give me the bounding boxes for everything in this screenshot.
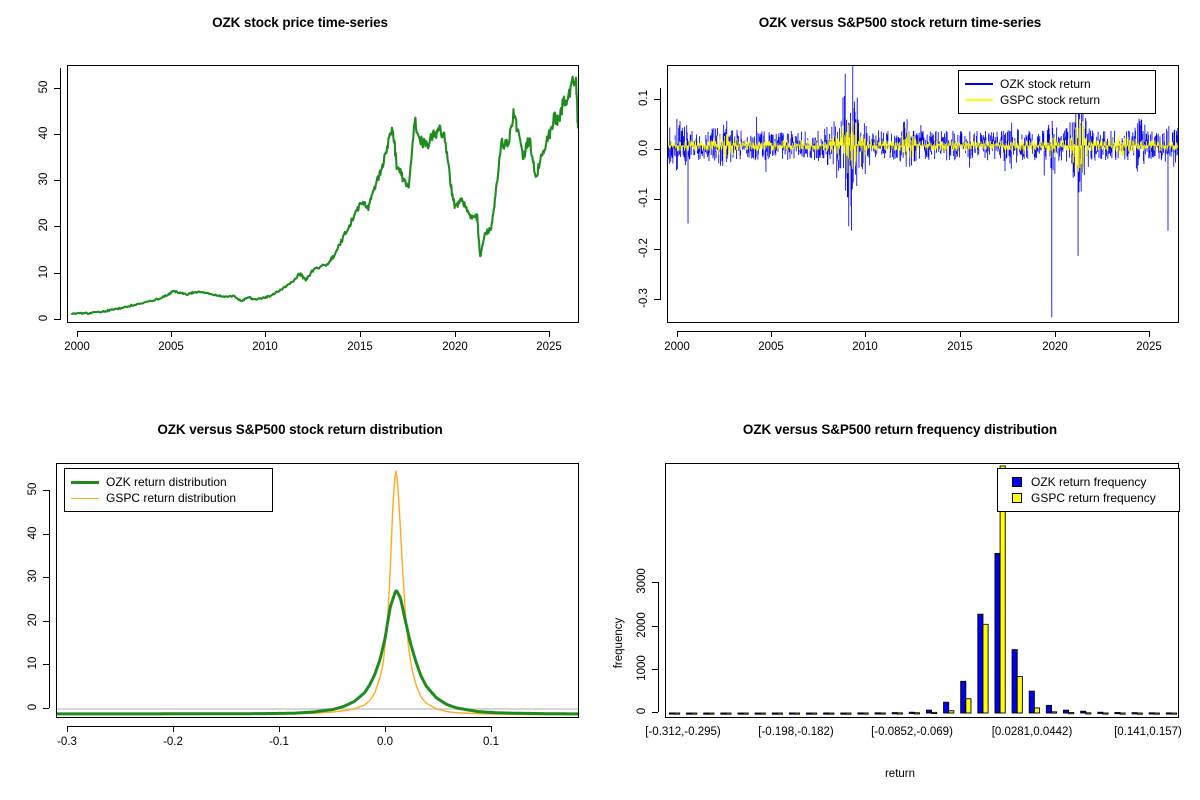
x-tick-label-2000-tr: 2000 — [664, 341, 690, 353]
frequency-bar — [812, 713, 817, 714]
legend-row-ozk-return: OZK stock return — [965, 76, 1148, 92]
y-tick-1000-br — [652, 669, 658, 670]
panel-title-top-right: OZK versus S&P500 stock return time-seri… — [600, 15, 1200, 30]
y-axis-line-top-left — [60, 68, 61, 320]
legend-swatch-gspc-frequency — [1012, 493, 1022, 503]
x-tick-label-bin5-br: [0.141,0.157) — [1114, 726, 1182, 738]
frequency-bar — [909, 712, 914, 713]
frequency-bar — [829, 713, 834, 714]
frequency-bar — [743, 713, 748, 714]
y-tick-30-bl — [43, 577, 49, 578]
legend-row-gspc-density: GSPC return distribution — [71, 490, 265, 506]
x-tick-label-m01-bl: -0.1 — [269, 736, 289, 748]
x-tick-label-2015-tl: 2015 — [347, 341, 373, 353]
y-tick-50-bl — [43, 490, 49, 491]
frequency-bar — [726, 713, 731, 714]
x-tick-label-m03-bl: -0.3 — [57, 736, 77, 748]
x-tick-2000-tr — [677, 331, 678, 337]
y-tick-label-m02-tr: -0.2 — [638, 231, 650, 265]
y-tick-0-bl — [43, 708, 49, 709]
frequency-bar — [932, 712, 937, 713]
y-tick-label-p01-tr: 0.1 — [638, 83, 650, 113]
legend-label-ozk-density: OZK return distribution — [106, 475, 227, 489]
x-tick-2015-tr — [960, 331, 961, 337]
frequency-bar — [1115, 712, 1120, 713]
y-tick-label-00-tr: 0.0 — [638, 133, 650, 163]
x-tick-m01-bl — [279, 726, 280, 732]
frequency-bar — [863, 713, 868, 714]
panel-title-bottom-right: OZK versus S&P500 return frequency distr… — [600, 422, 1200, 437]
legend-row-ozk-density: OZK return distribution — [71, 474, 265, 490]
frequency-bar — [858, 713, 863, 714]
panel-ozk-gspc-return-frequency: OZK versus S&P500 return frequency distr… — [600, 400, 1200, 800]
frequency-bar — [1137, 713, 1142, 714]
y-tick-m02-tr — [654, 249, 660, 250]
frequency-bar — [687, 713, 692, 714]
figure-canvas: OZK stock price time-series 0 10 20 30 4… — [0, 0, 1200, 800]
frequency-bar — [897, 713, 902, 714]
legend-bottom-left: OZK return distribution GSPC return dist… — [64, 468, 273, 512]
frequency-bar — [875, 713, 880, 714]
x-tick-m03-bl — [67, 726, 68, 732]
legend-row-gspc-return: GSPC stock return — [965, 92, 1148, 108]
x-tick-2005-tr — [771, 331, 772, 337]
legend-row-ozk-frequency: OZK return frequency — [1004, 474, 1172, 490]
y-tick-0-br — [652, 712, 658, 713]
y-tick-label-m01-tr: -0.1 — [638, 181, 650, 215]
x-tick-label-bin2-br: [-0.198,-0.182) — [758, 726, 833, 738]
x-tick-2020-tr — [1055, 331, 1056, 337]
ozk-price-line-svg — [68, 66, 579, 323]
frequency-bar — [777, 713, 782, 714]
frequency-bar — [789, 713, 794, 714]
panel-title-top-left: OZK stock price time-series — [0, 15, 600, 30]
frequency-bar — [1154, 713, 1159, 714]
x-tick-2025-tl — [549, 331, 550, 337]
y-tick-label-m03-tr: -0.3 — [638, 281, 650, 315]
x-tick-label-2010-tl: 2010 — [252, 341, 278, 353]
y-tick-label-30-tl: 30 — [38, 169, 50, 189]
frequency-bar — [1086, 713, 1091, 714]
frequency-bar — [1052, 712, 1057, 713]
frequency-bar — [966, 699, 971, 713]
y-tick-label-50-tl: 50 — [38, 77, 50, 97]
frequency-bar — [692, 713, 697, 714]
legend-row-gspc-frequency: GSPC return frequency — [1004, 490, 1172, 506]
legend-label-ozk-return: OZK stock return — [1000, 77, 1091, 91]
frequency-bar — [880, 713, 885, 714]
frequency-bar — [944, 702, 949, 713]
y-tick-label-10-tl: 10 — [38, 262, 50, 282]
x-tick-label-2015-tr: 2015 — [947, 341, 973, 353]
frequency-bar — [1132, 713, 1137, 714]
y-tick-00-tr — [654, 149, 660, 150]
y-tick-p01-tr — [654, 99, 660, 100]
frequency-bar — [675, 713, 680, 714]
y-tick-3000-br — [652, 582, 658, 583]
x-tick-label-m02-bl: -0.2 — [163, 736, 183, 748]
x-tick-2000-tl — [77, 331, 78, 337]
y-tick-10-bl — [43, 664, 49, 665]
panel-ozk-gspc-return-timeseries: OZK versus S&P500 stock return time-seri… — [600, 0, 1200, 400]
legend-bottom-right: OZK return frequency GSPC return frequen… — [997, 468, 1180, 512]
x-tick-label-bin3-br: [-0.0852,-0.069) — [871, 726, 953, 738]
legend-line-gspc-density — [71, 498, 99, 499]
x-tick-label-2020-tl: 2020 — [442, 341, 468, 353]
frequency-bar — [760, 713, 765, 714]
frequency-bar — [841, 713, 846, 714]
y-tick-label-50-bl: 50 — [27, 479, 39, 499]
x-tick-label-bin4-br: [0.0281,0.0442) — [992, 726, 1073, 738]
legend-swatch-ozk-frequency — [1012, 477, 1022, 487]
y-tick-m01-tr — [654, 199, 660, 200]
x-tick-2020-tl — [455, 331, 456, 337]
frequency-bar — [914, 713, 919, 714]
frequency-bar — [926, 710, 931, 713]
frequency-bar — [1098, 712, 1103, 713]
y-tick-2000-br — [652, 626, 658, 627]
x-tick-label-bin1-br: [-0.312,-0.295) — [645, 726, 720, 738]
frequency-bar — [1017, 677, 1022, 713]
frequency-bar — [1034, 708, 1039, 713]
frequency-bar — [1069, 713, 1074, 714]
y-tick-label-1000-br: 1000 — [636, 651, 648, 685]
y-tick-40-bl — [43, 534, 49, 535]
frequency-bar — [795, 713, 800, 714]
frequency-bar — [1046, 705, 1051, 713]
x-tick-label-2020-tr: 2020 — [1042, 341, 1068, 353]
x-tick-000-bl — [385, 726, 386, 732]
y-tick-20-bl — [43, 621, 49, 622]
x-tick-label-2025-tl: 2025 — [536, 341, 562, 353]
y-tick-m03-tr — [654, 299, 660, 300]
x-tick-label-2005-tl: 2005 — [158, 341, 184, 353]
x-tick-2010-tr — [865, 331, 866, 337]
y-axis-line-bottom-left — [49, 490, 50, 708]
y-tick-label-0-br: 0 — [636, 701, 648, 721]
frequency-bar — [949, 711, 954, 713]
frequency-bar — [995, 553, 1000, 713]
y-tick-label-2000-br: 2000 — [636, 608, 648, 642]
y-tick-label-0-bl: 0 — [27, 697, 39, 717]
frequency-bar — [755, 713, 760, 714]
y-axis-title-bottom-right: frequency — [613, 613, 625, 673]
x-tick-label-p01-bl: 0.1 — [483, 736, 499, 748]
legend-label-gspc-return: GSPC stock return — [1000, 93, 1100, 107]
frequency-bar — [961, 681, 966, 713]
frequency-bar — [1063, 710, 1068, 713]
frequency-bar — [709, 713, 714, 714]
y-tick-label-30-bl: 30 — [27, 566, 39, 586]
legend-line-ozk-density — [71, 481, 99, 484]
y-tick-label-0-tl: 0 — [38, 308, 50, 328]
y-tick-0-tl — [54, 319, 60, 320]
x-axis-line-top-right — [677, 331, 1150, 332]
frequency-bar — [1029, 691, 1034, 713]
ozk-price-line — [72, 77, 578, 314]
x-axis-line-top-left — [77, 331, 550, 332]
x-tick-2010-tl — [265, 331, 266, 337]
frequency-bar — [738, 713, 743, 714]
x-axis-title-bottom-right: return — [600, 768, 1200, 780]
y-tick-label-10-bl: 10 — [27, 653, 39, 673]
frequency-bar — [978, 614, 983, 713]
y-axis-line-top-right — [660, 88, 661, 300]
legend-line-ozk-return — [965, 83, 993, 85]
frequency-bar — [1166, 713, 1171, 714]
panel-ozk-price-timeseries: OZK stock price time-series 0 10 20 30 4… — [0, 0, 600, 400]
y-tick-50-tl — [54, 88, 60, 89]
x-tick-label-2000-tl: 2000 — [64, 341, 90, 353]
ozk-density-curve — [57, 591, 579, 714]
x-tick-2005-tl — [171, 331, 172, 337]
plot-area-top-left — [67, 65, 579, 323]
frequency-bar — [806, 713, 811, 714]
legend-label-gspc-density: GSPC return distribution — [106, 491, 236, 505]
legend-line-gspc-return — [965, 99, 993, 101]
frequency-bar — [1081, 711, 1086, 713]
y-tick-label-40-bl: 40 — [27, 523, 39, 543]
x-tick-2025-tr — [1149, 331, 1150, 337]
legend-label-ozk-frequency: OZK return frequency — [1031, 475, 1146, 489]
frequency-bar — [1171, 713, 1176, 714]
frequency-bar — [983, 624, 988, 713]
frequency-bar — [1103, 713, 1108, 714]
x-tick-2015-tl — [360, 331, 361, 337]
x-tick-label-2005-tr: 2005 — [758, 341, 784, 353]
y-tick-30-tl — [54, 180, 60, 181]
y-tick-label-3000-br: 3000 — [636, 564, 648, 598]
frequency-bar — [772, 713, 777, 714]
x-tick-m02-bl — [173, 726, 174, 732]
frequency-bar — [1149, 713, 1154, 714]
frequency-bar — [846, 713, 851, 714]
gspc-return-spikes — [668, 117, 1179, 174]
y-axis-line-bottom-right — [658, 582, 659, 712]
frequency-bar — [704, 713, 709, 714]
frequency-bar — [1012, 650, 1017, 713]
y-tick-label-20-bl: 20 — [27, 610, 39, 630]
frequency-bar — [1120, 713, 1125, 714]
x-tick-label-2010-tr: 2010 — [852, 341, 878, 353]
panel-ozk-gspc-return-density: OZK versus S&P500 stock return distribut… — [0, 400, 600, 800]
panel-title-bottom-left: OZK versus S&P500 stock return distribut… — [0, 422, 600, 437]
legend-label-gspc-frequency: GSPC return frequency — [1031, 491, 1156, 505]
y-tick-10-tl — [54, 273, 60, 274]
frequency-bar — [721, 713, 726, 714]
y-tick-20-tl — [54, 226, 60, 227]
y-tick-label-40-tl: 40 — [38, 123, 50, 143]
x-tick-label-000-bl: 0.0 — [377, 736, 393, 748]
y-tick-label-20-tl: 20 — [38, 215, 50, 235]
frequency-bar — [824, 713, 829, 714]
x-tick-label-2025-tr: 2025 — [1136, 341, 1162, 353]
legend-top-right: OZK stock return GSPC stock return — [958, 70, 1156, 114]
x-tick-p01-bl — [491, 726, 492, 732]
frequency-bar — [892, 713, 897, 714]
y-tick-40-tl — [54, 134, 60, 135]
frequency-bar — [669, 713, 674, 714]
